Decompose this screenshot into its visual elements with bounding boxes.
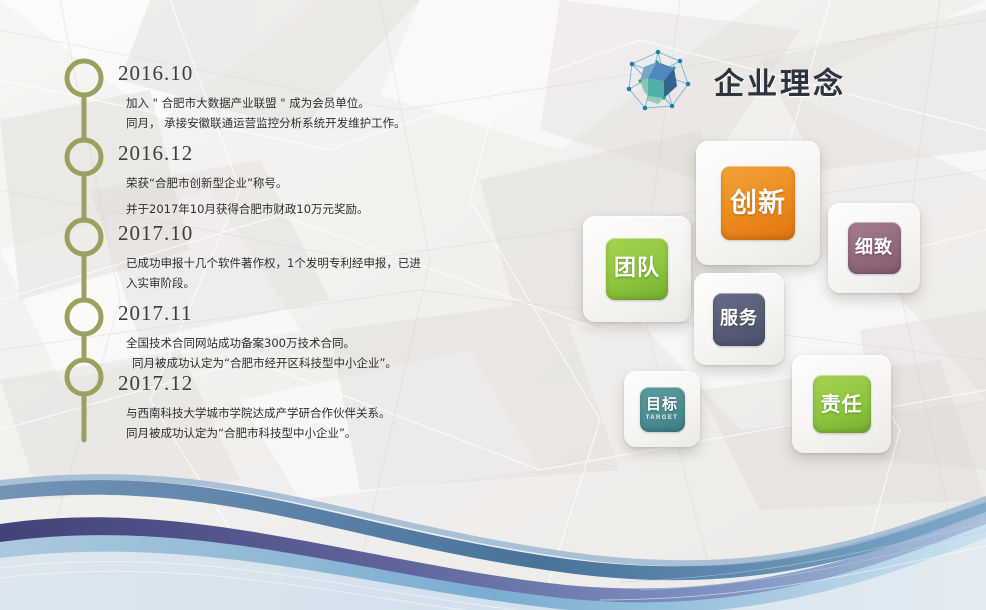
philosophy-card-service[interactable]: 服务: [694, 273, 784, 365]
bottom-wave-decoration: [0, 450, 986, 610]
tile-target: 目标 TARGET: [640, 387, 685, 432]
tile-innovation: 创新: [721, 166, 795, 240]
tile-label: 责任: [821, 394, 863, 414]
tile-label: 服务: [720, 310, 758, 328]
tile-responsibility: 责任: [813, 375, 871, 433]
tile-sublabel: TARGET: [646, 415, 679, 421]
tile-label: 细致: [855, 239, 893, 257]
tile-label: 创新: [730, 190, 786, 217]
slide-canvas: 2016.10 加入 " 合肥市大数据产业联盟 " 成为会员单位。 同月， 承接…: [0, 0, 986, 610]
tile-service: 服务: [713, 293, 765, 346]
philosophy-card-detail[interactable]: 细致: [828, 203, 920, 293]
tile-label: 团队: [614, 258, 660, 280]
philosophy-card-group: 团队 创新 细致 服务 目标 TARGET 责任: [0, 0, 986, 470]
tile-team: 团队: [606, 238, 668, 300]
philosophy-card-innovation[interactable]: 创新: [696, 141, 820, 265]
tile-detail: 细致: [848, 222, 901, 274]
tile-label: 目标: [646, 397, 678, 412]
philosophy-card-target[interactable]: 目标 TARGET: [624, 371, 700, 447]
philosophy-card-team[interactable]: 团队: [583, 216, 691, 322]
philosophy-card-responsibility[interactable]: 责任: [792, 355, 891, 453]
